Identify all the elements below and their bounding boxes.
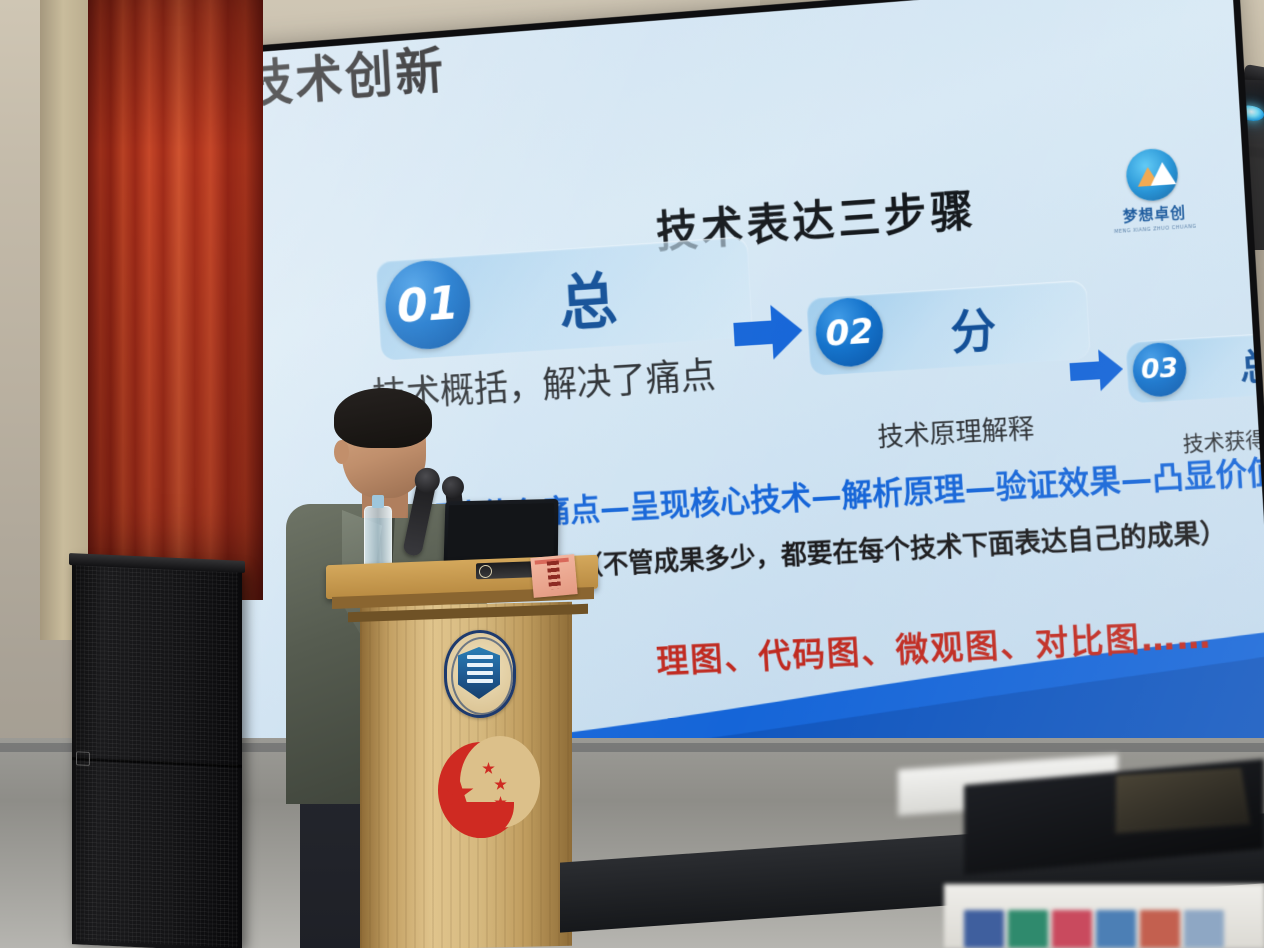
screenshot-root: 技术创新 技术表达三步骤 梦想卓创 MENG XIANG ZHUO CHUANG… xyxy=(0,0,1264,948)
step-word: 分 xyxy=(948,291,997,362)
red-stage-curtain xyxy=(88,0,263,600)
step-card-03: 03 总 xyxy=(1125,328,1264,403)
arrow-step-2-to-3-icon xyxy=(1067,345,1127,396)
brand-logo: 梦想卓创 MENG XIANG ZHUO CHUANG xyxy=(1105,146,1201,236)
speaker-name-card xyxy=(530,554,577,598)
foreground-color-swatches xyxy=(954,888,1264,948)
red-crescent-stars-emblem-icon xyxy=(438,742,524,842)
step-number-badge: 02 xyxy=(814,296,885,369)
mountain-circle-logo-icon xyxy=(1125,147,1179,202)
arrow-step-1-to-2-icon xyxy=(730,299,806,366)
step-card-02: 02 分 xyxy=(806,280,1091,376)
step-number-badge: 03 xyxy=(1131,341,1187,398)
step-number-badge: 01 xyxy=(383,258,472,352)
institution-crest-icon xyxy=(444,630,516,718)
step-word: 总 xyxy=(556,252,619,343)
wooden-podium xyxy=(326,560,598,948)
foreground-device xyxy=(1115,768,1250,834)
presenter-hair xyxy=(334,388,432,448)
pa-speaker-cabinet xyxy=(72,561,242,948)
step-caption-02: 技术原理解释 xyxy=(876,407,1035,454)
presenter-ear xyxy=(334,440,349,464)
step-card-01: 01 总 xyxy=(376,236,753,361)
